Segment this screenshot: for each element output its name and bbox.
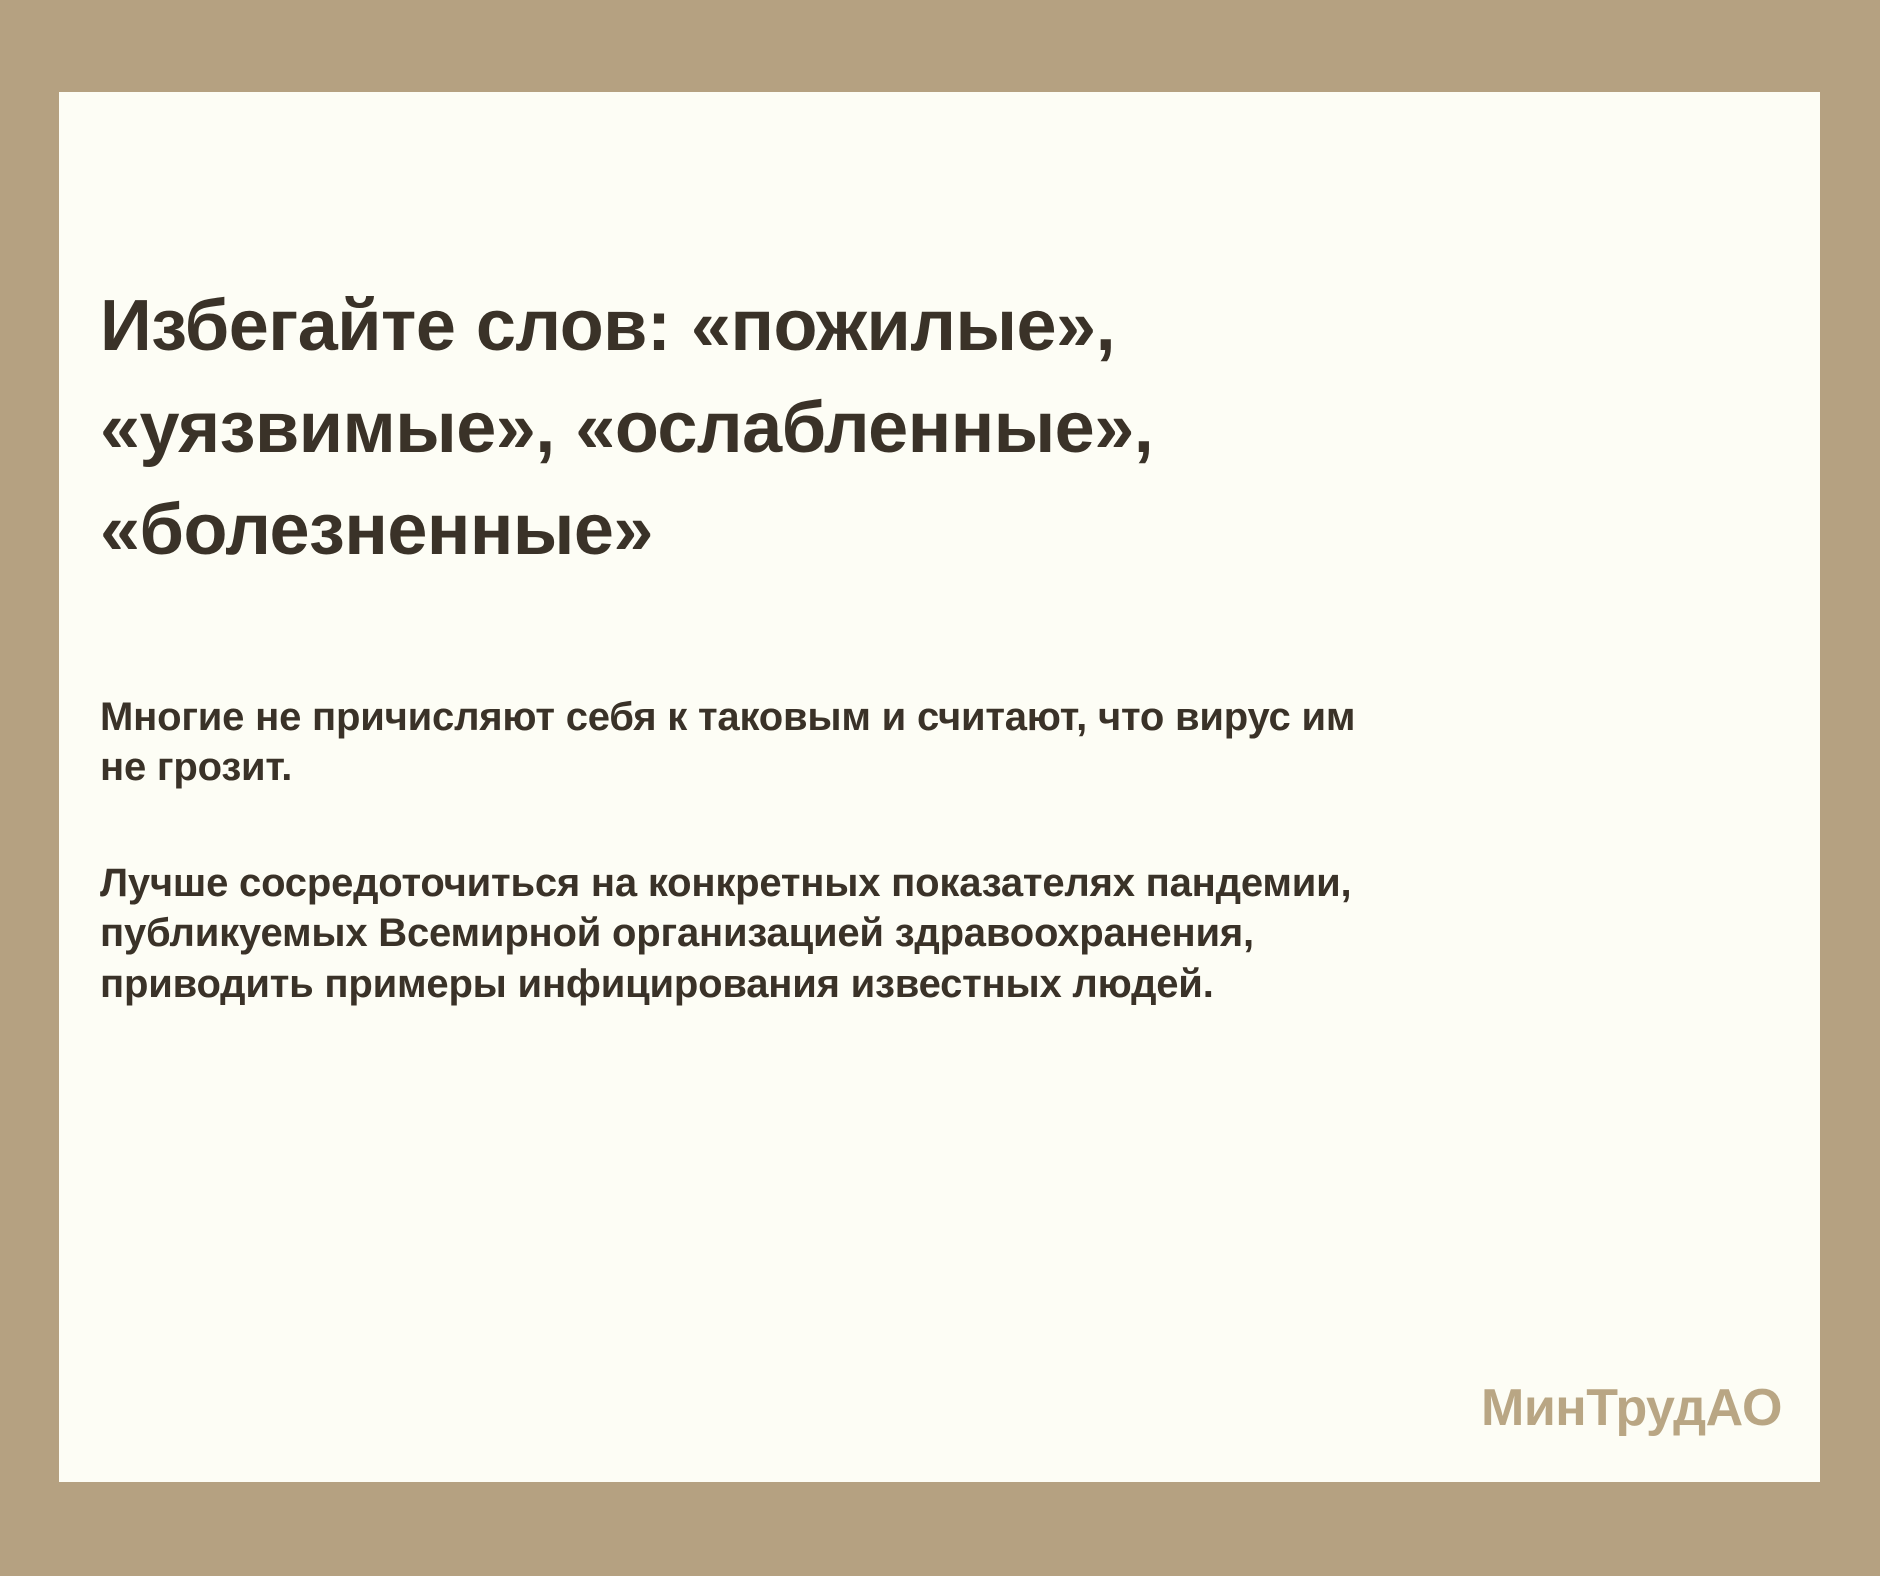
body-paragraph-2: Лучше сосредоточиться на конкретных пока… xyxy=(100,858,1620,1009)
card-content: Избегайте слов: «пожилые», «уязвимые», «… xyxy=(100,92,1700,1482)
poster-canvas: Избегайте слов: «пожилые», «уязвимые», «… xyxy=(0,0,1880,1576)
body-paragraph-1: Многие не причисляют себя к таковым и сч… xyxy=(100,692,1620,793)
content-card: Избегайте слов: «пожилые», «уязвимые», «… xyxy=(59,92,1820,1482)
body-text-block: Многие не причисляют себя к таковым и сч… xyxy=(100,692,1620,1009)
headline-line-1: Избегайте слов: «пожилые», xyxy=(100,275,1520,377)
paragraph-2-line-2: публикуемых Всемирной организацией здрав… xyxy=(100,908,1620,958)
paragraph-1-line-1: Многие не причисляют себя к таковым и сч… xyxy=(100,692,1620,742)
page-title: Избегайте слов: «пожилые», «уязвимые», «… xyxy=(100,275,1520,582)
paragraph-2-line-1: Лучше сосредоточиться на конкретных пока… xyxy=(100,858,1620,908)
paragraph-1-line-2: не грозит. xyxy=(100,742,1620,792)
headline-line-3: «болезненные» xyxy=(100,479,1520,581)
brand-signature: МинТрудАО xyxy=(1481,1378,1782,1438)
paragraph-2-line-3: приводить примеры инфицирования известны… xyxy=(100,959,1620,1009)
headline-line-2: «уязвимые», «ослабленные», xyxy=(100,377,1520,479)
